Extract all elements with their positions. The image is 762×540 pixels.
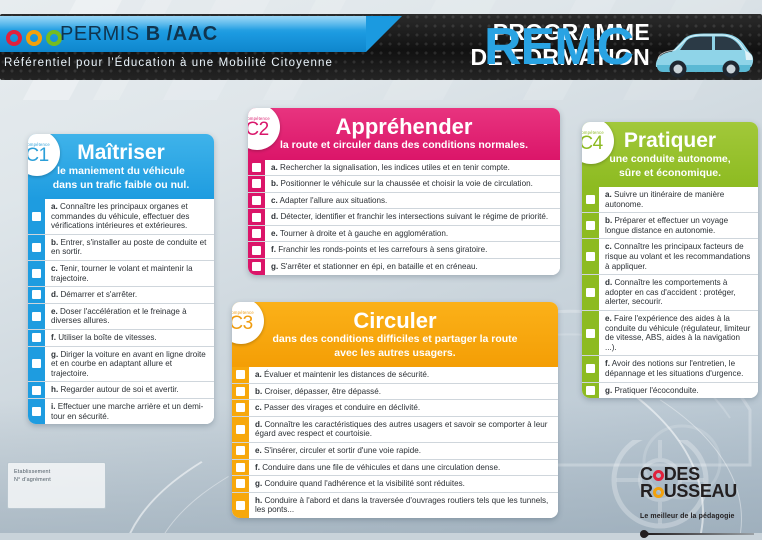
- checkbox-icon[interactable]: [32, 407, 41, 416]
- competence-item-letter: a.: [271, 163, 278, 172]
- competence-item-label: Conduire quand l'adhérence et la visibil…: [264, 479, 464, 488]
- checkbox-cell[interactable]: [28, 287, 45, 303]
- competence-item-letter: b.: [271, 179, 278, 188]
- competence-item-letter: b.: [51, 238, 58, 247]
- competence-item-list-c3: a. Évaluer et maintenir les distances de…: [232, 367, 558, 518]
- competence-item-row[interactable]: f. Franchir les ronds-points et les carr…: [248, 242, 560, 259]
- competence-item-row[interactable]: f. Utiliser la boîte de vitesses.: [28, 330, 214, 347]
- competence-item-label: Utiliser la boîte de vitesses.: [58, 333, 157, 342]
- card-subtitle-line-1: le maniement du véhicule: [36, 165, 206, 178]
- competence-item-row[interactable]: b. Croiser, dépasser, être dépassé.: [232, 384, 558, 401]
- competence-item-letter: a.: [605, 190, 612, 199]
- competence-item-label: Faire l'expérience des aides à la condui…: [605, 314, 750, 352]
- checkbox-icon[interactable]: [586, 221, 595, 230]
- competence-item-row[interactable]: a. Rechercher la signalisation, les indi…: [248, 160, 560, 177]
- amber-light-icon: [26, 30, 42, 46]
- competence-item-text: e. Tourner à droite et à gauche en agglo…: [265, 226, 560, 242]
- competence-item-row[interactable]: b. Préparer et effectuer un voyage longu…: [582, 213, 758, 239]
- competence-item-row[interactable]: e. S'insérer, circuler et sortir d'une v…: [232, 443, 558, 460]
- checkbox-icon[interactable]: [252, 196, 261, 205]
- competence-item-letter: e.: [271, 229, 278, 238]
- checkbox-cell[interactable]: [248, 259, 265, 275]
- checkbox-cell[interactable]: [248, 226, 265, 242]
- competence-item-text: a. Suivre un itinéraire de manière auton…: [599, 187, 758, 212]
- competence-item-letter: a.: [255, 370, 262, 379]
- competence-item-label: Connaître les principaux facteurs de ris…: [605, 242, 750, 270]
- competence-item-label: Tenir, tourner le volant et maintenir la…: [51, 264, 193, 283]
- checkbox-cell[interactable]: [28, 199, 45, 234]
- competence-item-label: Franchir les ronds-points et les carrefo…: [278, 245, 487, 254]
- competence-item-row[interactable]: e. Doser l'accélération et le freinage à…: [28, 304, 214, 330]
- competence-item-text: a. Connaître les principaux organes et c…: [45, 199, 214, 234]
- competence-item-letter: f.: [255, 463, 260, 472]
- checkbox-icon[interactable]: [586, 252, 595, 261]
- checkbox-cell[interactable]: [28, 235, 45, 260]
- card-subtitle-line-2: sûre et économique.: [590, 167, 750, 180]
- checkbox-icon[interactable]: [32, 212, 41, 221]
- checkbox-icon[interactable]: [236, 403, 245, 412]
- checkbox-cell[interactable]: [582, 356, 599, 381]
- card-title: Circuler: [240, 309, 550, 332]
- permis-category: B /AAC: [146, 23, 218, 45]
- card-header-c2: Appréhender la route et circuler dans de…: [248, 108, 560, 160]
- card-subtitle-line-1: une conduite autonome,: [590, 153, 750, 166]
- competence-item-text: d. Détecter, identifier et franchir les …: [265, 209, 560, 225]
- competence-item-row[interactable]: i. Effectuer une marche arrière et un de…: [28, 399, 214, 424]
- competence-item-row[interactable]: g. S'arrêter et stationner en épi, en ba…: [248, 259, 560, 275]
- competence-item-letter: e.: [605, 314, 612, 323]
- competence-item-label: Positionner le véhicule sur la chaussée …: [280, 179, 532, 188]
- checkbox-icon[interactable]: [252, 246, 261, 255]
- checkbox-icon[interactable]: [236, 463, 245, 472]
- red-dot-icon: [653, 470, 664, 481]
- checkbox-icon[interactable]: [32, 333, 41, 342]
- checkbox-icon[interactable]: [236, 370, 245, 379]
- competence-item-row[interactable]: f. Conduire dans une file de véhicules e…: [232, 460, 558, 477]
- competence-item-text: f. Avoir des notions sur l'entretien, le…: [599, 356, 758, 381]
- checkbox-icon[interactable]: [32, 243, 41, 252]
- competence-item-list-c1: a. Connaître les principaux organes et c…: [28, 199, 214, 424]
- badge-code: C3: [232, 314, 253, 333]
- page-header: PERMIS B /AAC Référentiel pour l'Éducati…: [0, 14, 762, 86]
- competence-item-letter: c.: [271, 196, 278, 205]
- competence-item-label: Avoir des notions sur l'entretien, le dé…: [605, 359, 743, 378]
- car-illustration: [652, 28, 756, 84]
- etablissement-box[interactable]: Etablissement N° d'agrément: [7, 462, 106, 509]
- checkbox-icon[interactable]: [252, 262, 261, 271]
- competence-item-label: Conduire à l'abord et dans la traversée …: [255, 496, 548, 515]
- competence-item-label: Évaluer et maintenir les distances de sé…: [264, 370, 429, 379]
- competence-card-c4: Compétence C4 Pratiquer une conduite aut…: [582, 122, 758, 398]
- competence-item-row[interactable]: h. Regarder autour de soi et avertir.: [28, 382, 214, 399]
- competence-item-list-c2: a. Rechercher la signalisation, les indi…: [248, 160, 560, 275]
- checkbox-cell[interactable]: [28, 382, 45, 398]
- checkbox-icon[interactable]: [252, 229, 261, 238]
- competence-item-row[interactable]: g. Pratiquer l'écoconduite.: [582, 383, 758, 399]
- checkbox-cell[interactable]: [232, 443, 249, 459]
- competence-item-row[interactable]: c. Tenir, tourner le volant et maintenir…: [28, 261, 214, 287]
- competence-item-row[interactable]: e. Tourner à droite et à gauche en agglo…: [248, 226, 560, 243]
- competence-item-label: Pratiquer l'écoconduite.: [614, 386, 698, 395]
- card-subtitle-line-2: dans un trafic faible ou nul.: [36, 179, 206, 192]
- competence-item-row[interactable]: b. Positionner le véhicule sur la chauss…: [248, 176, 560, 193]
- competence-item-text: c. Tenir, tourner le volant et maintenir…: [45, 261, 214, 286]
- competence-item-label: Conduire dans une file de véhicules et d…: [262, 463, 500, 472]
- logo-line-2: RUSSEAU: [640, 483, 758, 500]
- checkbox-cell[interactable]: [28, 330, 45, 346]
- card-subtitle-line-1: dans des conditions difficiles et partag…: [240, 333, 550, 346]
- competence-item-text: g. S'arrêter et stationner en épi, en ba…: [265, 259, 560, 275]
- checkbox-cell[interactable]: [582, 213, 599, 238]
- checkbox-icon[interactable]: [236, 446, 245, 455]
- permis-label: PERMIS B /AAC: [60, 23, 218, 46]
- checkbox-cell[interactable]: [582, 239, 599, 274]
- competence-card-c2: Compétence C2 Appréhender la route et ci…: [248, 108, 560, 275]
- checkbox-cell[interactable]: [28, 399, 45, 424]
- checkbox-icon[interactable]: [586, 386, 595, 395]
- checkbox-cell[interactable]: [232, 384, 249, 400]
- competence-item-text: d. Connaître les caractéristiques des au…: [249, 417, 558, 442]
- competence-item-label: Connaître les principaux organes et comm…: [51, 202, 189, 230]
- competence-item-letter: c.: [255, 403, 262, 412]
- competence-item-label: Regarder autour de soi et avertir.: [60, 385, 178, 394]
- checkbox-cell[interactable]: [28, 261, 45, 286]
- competence-item-letter: g.: [605, 386, 612, 395]
- checkbox-icon[interactable]: [252, 179, 261, 188]
- competence-item-row[interactable]: a. Évaluer et maintenir les distances de…: [232, 367, 558, 384]
- competence-item-letter: h.: [51, 385, 58, 394]
- competence-item-text: d. Démarrer et s'arrêter.: [45, 287, 214, 303]
- competence-item-letter: g.: [255, 479, 262, 488]
- competence-item-row[interactable]: h. Conduire à l'abord et dans la travers…: [232, 493, 558, 518]
- logo-tagline: Le meilleur de la pédagogie: [640, 513, 758, 520]
- competence-item-letter: h.: [255, 496, 262, 505]
- checkbox-cell[interactable]: [582, 383, 599, 399]
- checkbox-cell[interactable]: [582, 311, 599, 355]
- competence-item-letter: e.: [51, 307, 58, 316]
- checkbox-icon[interactable]: [32, 359, 41, 368]
- checkbox-icon[interactable]: [586, 195, 595, 204]
- competence-item-text: i. Effectuer une marche arrière et un de…: [45, 399, 214, 424]
- competence-item-label: Connaître les caractéristiques des autre…: [255, 420, 547, 439]
- competence-item-letter: b.: [605, 216, 612, 225]
- checkbox-cell[interactable]: [28, 347, 45, 382]
- checkbox-icon[interactable]: [32, 290, 41, 299]
- card-subtitle-line-2: avec les autres usagers.: [240, 347, 550, 360]
- competence-item-text: f. Utiliser la boîte de vitesses.: [45, 330, 214, 346]
- competence-item-text: h. Regarder autour de soi et avertir.: [45, 382, 214, 398]
- competence-item-text: e. Faire l'expérience des aides à la con…: [599, 311, 758, 355]
- competence-item-letter: a.: [51, 202, 58, 211]
- competence-item-letter: d.: [255, 420, 262, 429]
- competence-item-letter: i.: [51, 402, 56, 411]
- competence-item-letter: d.: [605, 278, 612, 287]
- competence-card-c1: Compétence C1 Maîtriser le maniement du …: [28, 134, 214, 424]
- competence-item-letter: f.: [605, 359, 610, 368]
- competence-item-row[interactable]: e. Faire l'expérience des aides à la con…: [582, 311, 758, 356]
- competence-item-list-c4: a. Suivre un itinéraire de manière auton…: [582, 187, 758, 398]
- card-header-c3: Circuler dans des conditions difficiles …: [232, 302, 558, 367]
- checkbox-icon[interactable]: [252, 213, 261, 222]
- checkbox-icon[interactable]: [236, 501, 245, 510]
- card-title: Maîtriser: [36, 141, 206, 164]
- competence-item-row[interactable]: c. Adapter l'allure aux situations.: [248, 193, 560, 210]
- checkbox-icon[interactable]: [32, 386, 41, 395]
- competence-item-text: b. Préparer et effectuer un voyage longu…: [599, 213, 758, 238]
- header-subtitle: Référentiel pour l'Éducation à une Mobil…: [4, 57, 333, 69]
- checkbox-icon[interactable]: [252, 163, 261, 172]
- permis-prefix: PERMIS: [60, 23, 146, 45]
- competence-item-label: Détecter, identifier et franchir les int…: [280, 212, 548, 221]
- competence-item-text: a. Rechercher la signalisation, les indi…: [265, 160, 560, 176]
- competence-item-text: f. Franchir les ronds-points et les carr…: [265, 242, 560, 258]
- checkbox-cell[interactable]: [248, 160, 265, 176]
- competence-item-letter: e.: [255, 446, 262, 455]
- red-light-icon: [6, 30, 22, 46]
- competence-item-letter: c.: [605, 242, 612, 251]
- competence-item-text: a. Évaluer et maintenir les distances de…: [249, 367, 558, 383]
- competence-item-letter: d.: [51, 290, 58, 299]
- competence-item-label: Démarrer et s'arrêter.: [60, 290, 137, 299]
- checkbox-cell[interactable]: [582, 187, 599, 212]
- competence-item-row[interactable]: b. Entrer, s'installer au poste de condu…: [28, 235, 214, 261]
- etablissement-label: Etablissement: [14, 468, 99, 476]
- competence-item-label: Connaître les comportements à adopter en…: [605, 278, 736, 306]
- competence-item-label: Doser l'accélération et le freinage à di…: [51, 307, 187, 326]
- competence-item-text: c. Connaître les principaux facteurs de …: [599, 239, 758, 274]
- competence-item-label: Passer des virages et conduire en décliv…: [264, 403, 420, 412]
- checkbox-icon[interactable]: [32, 269, 41, 278]
- competence-item-text: e. S'insérer, circuler et sortir d'une v…: [249, 443, 558, 459]
- competence-item-text: d. Connaître les comportements à adopter…: [599, 275, 758, 310]
- card-title: Appréhender: [256, 115, 552, 138]
- checkbox-icon[interactable]: [586, 364, 595, 373]
- competence-item-letter: b.: [255, 387, 262, 396]
- competence-item-letter: f.: [51, 333, 56, 342]
- competence-item-label: Suivre un itinéraire de manière autonome…: [605, 190, 724, 209]
- competence-item-letter: g.: [51, 350, 58, 359]
- competence-item-row[interactable]: g. Conduire quand l'adhérence et la visi…: [232, 476, 558, 493]
- competence-item-label: S'arrêter et stationner en épi, en batai…: [280, 262, 477, 271]
- competence-item-label: Effectuer une marche arrière et un demi-…: [51, 402, 203, 421]
- agrement-label: N° d'agrément: [14, 476, 99, 484]
- checkbox-icon[interactable]: [32, 312, 41, 321]
- competence-item-row[interactable]: d. Détecter, identifier et franchir les …: [248, 209, 560, 226]
- checkbox-icon[interactable]: [236, 387, 245, 396]
- competence-item-label: S'insérer, circuler et sortir d'une voie…: [264, 446, 421, 455]
- checkbox-cell[interactable]: [232, 417, 249, 442]
- competence-item-text: g. Conduire quand l'adhérence et la visi…: [249, 476, 558, 492]
- checkbox-cell[interactable]: [248, 209, 265, 225]
- checkbox-cell[interactable]: [232, 476, 249, 492]
- competence-item-letter: g.: [271, 262, 278, 271]
- competence-item-letter: c.: [51, 264, 58, 273]
- competence-item-row[interactable]: d. Démarrer et s'arrêter.: [28, 287, 214, 304]
- checkbox-cell[interactable]: [28, 304, 45, 329]
- competence-item-text: g. Pratiquer l'écoconduite.: [599, 383, 758, 399]
- competence-item-letter: d.: [271, 212, 278, 221]
- checkbox-icon[interactable]: [236, 479, 245, 488]
- checkbox-cell[interactable]: [248, 176, 265, 192]
- checkbox-cell[interactable]: [248, 193, 265, 209]
- logo-rule: [648, 533, 754, 535]
- competence-item-text: b. Entrer, s'installer au poste de condu…: [45, 235, 214, 260]
- competence-item-text: c. Adapter l'allure aux situations.: [265, 193, 560, 209]
- competence-item-row[interactable]: a. Suivre un itinéraire de manière auton…: [582, 187, 758, 213]
- competence-item-label: Diriger la voiture en avant en ligne dro…: [51, 350, 206, 378]
- competence-item-label: Préparer et effectuer un voyage longue d…: [605, 216, 728, 235]
- checkbox-cell[interactable]: [232, 367, 249, 383]
- remc-brand: REMC: [484, 18, 633, 76]
- competence-item-text: f. Conduire dans une file de véhicules e…: [249, 460, 558, 476]
- competence-item-label: Adapter l'allure aux situations.: [280, 196, 388, 205]
- competence-item-text: c. Passer des virages et conduire en déc…: [249, 400, 558, 416]
- competence-item-row[interactable]: c. Connaître les principaux facteurs de …: [582, 239, 758, 275]
- checkbox-cell[interactable]: [582, 275, 599, 310]
- checkbox-icon[interactable]: [586, 329, 595, 338]
- checkbox-cell[interactable]: [232, 400, 249, 416]
- checkbox-cell[interactable]: [232, 493, 249, 518]
- competence-item-text: b. Croiser, dépasser, être dépassé.: [249, 384, 558, 400]
- competence-item-row[interactable]: f. Avoir des notions sur l'entretien, le…: [582, 356, 758, 382]
- competence-item-row[interactable]: c. Passer des virages et conduire en déc…: [232, 400, 558, 417]
- competence-item-row[interactable]: d. Connaître les caractéristiques des au…: [232, 417, 558, 443]
- competence-item-row[interactable]: g. Diriger la voiture en avant en ligne …: [28, 347, 214, 383]
- checkbox-cell[interactable]: [232, 460, 249, 476]
- competence-item-row[interactable]: d. Connaître les comportements à adopter…: [582, 275, 758, 311]
- competence-item-label: Croiser, dépasser, être dépassé.: [264, 387, 381, 396]
- competence-item-text: h. Conduire à l'abord et dans la travers…: [249, 493, 558, 518]
- competence-card-c3: Compétence C3 Circuler dans des conditio…: [232, 302, 558, 518]
- badge-code: C4: [582, 134, 603, 153]
- competence-item-label: Rechercher la signalisation, les indices…: [280, 163, 510, 172]
- checkbox-icon[interactable]: [586, 288, 595, 297]
- card-subtitle-line-1: la route et circuler dans des conditions…: [256, 139, 552, 152]
- competence-item-text: b. Positionner le véhicule sur la chauss…: [265, 176, 560, 192]
- competence-item-row[interactable]: a. Connaître les principaux organes et c…: [28, 199, 214, 235]
- traffic-light-icon: [6, 30, 62, 46]
- competence-item-letter: f.: [271, 245, 276, 254]
- badge-code: C2: [248, 120, 269, 139]
- competence-item-text: e. Doser l'accélération et le freinage à…: [45, 304, 214, 329]
- codes-rousseau-logo: CDES RUSSEAU Le meilleur de la pédagogie: [640, 466, 758, 514]
- competence-item-text: g. Diriger la voiture en avant en ligne …: [45, 347, 214, 382]
- checkbox-icon[interactable]: [236, 425, 245, 434]
- competence-item-label: Entrer, s'installer au poste de conduite…: [51, 238, 206, 257]
- amber-dot-icon: [653, 487, 664, 498]
- badge-code: C1: [28, 146, 49, 165]
- card-title: Pratiquer: [590, 129, 750, 152]
- competence-item-label: Tourner à droite et à gauche en agglomér…: [280, 229, 448, 238]
- checkbox-cell[interactable]: [248, 242, 265, 258]
